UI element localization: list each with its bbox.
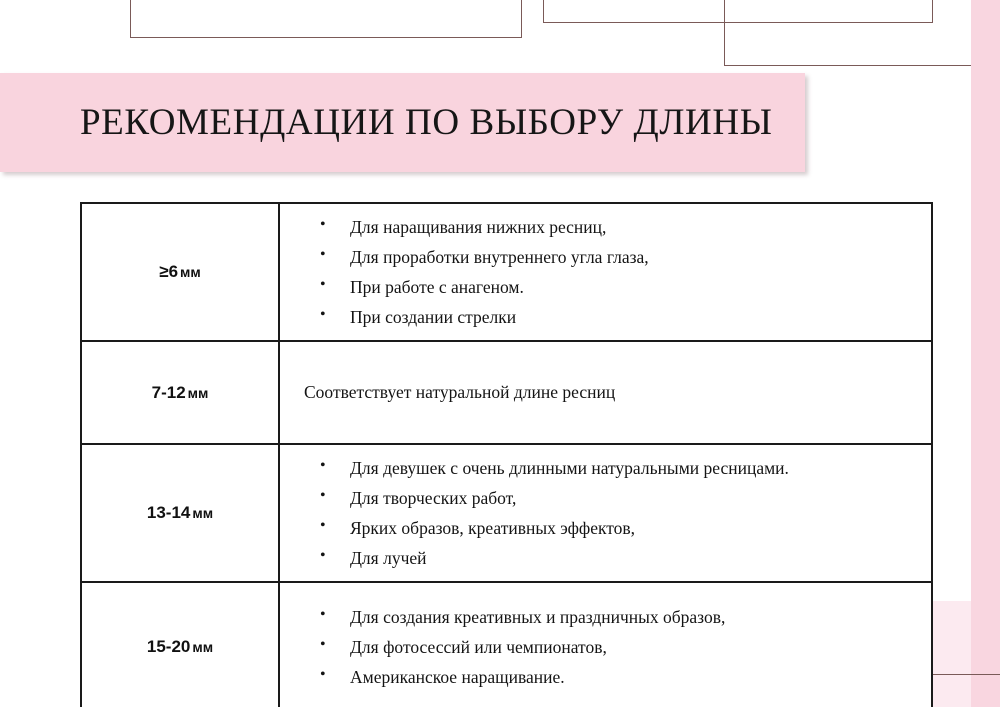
cell-description: Для девушек с очень длинными натуральным… (279, 444, 932, 582)
cell-length-range: ≥6мм (81, 203, 279, 341)
description-list: Для девушек с очень длинными натуральным… (298, 453, 921, 573)
length-value: ≥6 (159, 262, 178, 281)
list-item: Для создания креативных и праздничных об… (320, 602, 921, 632)
length-value: 13-14 (147, 503, 190, 522)
description-list: Для наращивания нижних ресниц, Для прора… (298, 212, 921, 332)
list-item: При работе с анагеном. (320, 272, 921, 302)
list-item: Для проработки внутреннего угла глаза, (320, 242, 921, 272)
table-row: 15-20мм Для создания креативных и праздн… (81, 582, 932, 707)
list-item: Для наращивания нижних ресниц, (320, 212, 921, 242)
length-unit: мм (180, 264, 201, 280)
cell-length-range: 15-20мм (81, 582, 279, 707)
decorative-rect-top-left (130, 0, 522, 38)
cell-length-range: 7-12мм (81, 341, 279, 444)
decorative-band-right (971, 0, 1000, 707)
length-value: 7-12 (152, 383, 186, 402)
length-unit: мм (192, 639, 213, 655)
length-recommendation-table: ≥6мм Для наращивания нижних ресниц, Для … (80, 202, 933, 707)
cell-description: Для наращивания нижних ресниц, Для прора… (279, 203, 932, 341)
cell-description: Для создания креативных и праздничных об… (279, 582, 932, 707)
cell-description: Соответствует натуральной длине ресниц (279, 341, 932, 444)
list-item: Американское наращивание. (320, 662, 921, 692)
list-item: Для девушек с очень длинными натуральным… (320, 453, 921, 483)
description-text: Соответствует натуральной длине ресниц (298, 380, 921, 406)
list-item: Для фотосессий или чемпионатов, (320, 632, 921, 662)
length-unit: мм (192, 505, 213, 521)
table-row: ≥6мм Для наращивания нижних ресниц, Для … (81, 203, 932, 341)
length-unit: мм (188, 385, 209, 401)
slide-canvas: РЕКОМЕНДАЦИИ ПО ВЫБОРУ ДЛИНЫ ≥6мм Для на… (0, 0, 1000, 707)
list-item: При создании стрелки (320, 302, 921, 332)
table-row: 7-12мм Соответствует натуральной длине р… (81, 341, 932, 444)
title-banner: РЕКОМЕНДАЦИИ ПО ВЫБОРУ ДЛИНЫ (0, 73, 805, 172)
table-row: 13-14мм Для девушек с очень длинными нат… (81, 444, 932, 582)
length-value: 15-20 (147, 637, 190, 656)
description-list: Для создания креативных и праздничных об… (298, 602, 921, 692)
list-item: Для лучей (320, 543, 921, 573)
page-title: РЕКОМЕНДАЦИИ ПО ВЫБОРУ ДЛИНЫ (80, 101, 773, 144)
list-item: Ярких образов, креативных эффектов, (320, 513, 921, 543)
table-body: ≥6мм Для наращивания нижних ресниц, Для … (81, 203, 932, 707)
list-item: Для творческих работ, (320, 483, 921, 513)
cell-length-range: 13-14мм (81, 444, 279, 582)
decorative-rect-top-right (724, 0, 1000, 66)
